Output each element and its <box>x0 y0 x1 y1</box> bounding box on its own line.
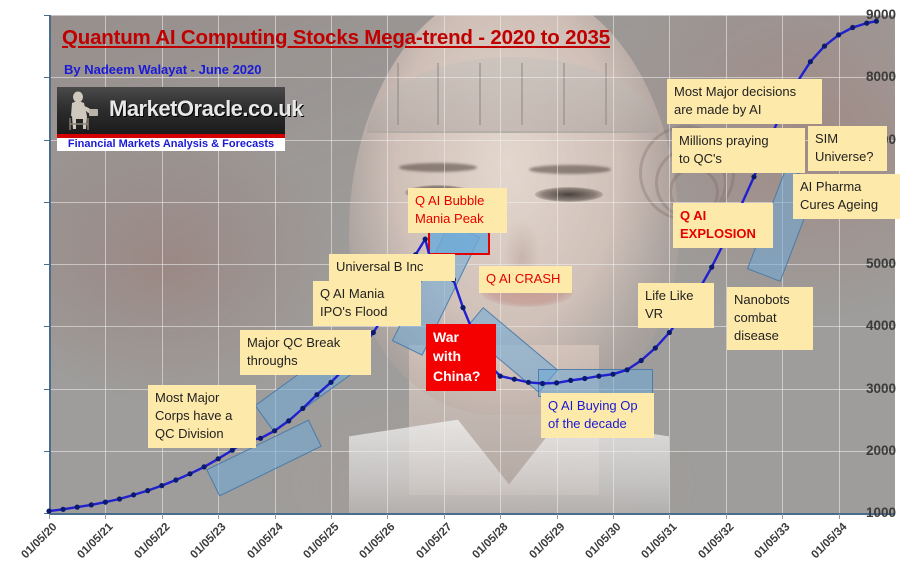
x-axis-tick <box>105 514 106 519</box>
gridline-vertical <box>557 15 558 513</box>
annotation-most-major-decisions: Most Major decisions are made by AI <box>667 79 822 124</box>
annotation-qai-explosion: Q AI EXPLOSION <box>673 203 773 248</box>
annotation-qai-buying-op: Q AI Buying Op of the decade <box>541 393 654 438</box>
y-axis-tick <box>44 77 50 78</box>
x-axis-tick-label: 01/05/31 <box>628 521 680 573</box>
x-axis-tick <box>275 514 276 519</box>
chart-root: 100020003000400050006000700080009000 01/… <box>0 0 900 567</box>
seated-figure-icon <box>61 89 105 133</box>
x-axis-tick-label: 01/05/30 <box>571 521 623 573</box>
y-axis-tick <box>44 451 50 452</box>
logo-tagline: Financial Markets Analysis & Forecasts <box>57 138 285 151</box>
gridline-horizontal <box>49 15 895 16</box>
annotation-qai-crash: Q AI CRASH <box>479 266 572 293</box>
annotation-qai-mania-ipos: Q AI Mania IPO's Flood <box>313 281 421 326</box>
x-axis-tick-label: 01/05/23 <box>176 521 228 573</box>
x-axis-tick-label: 01/05/20 <box>7 521 59 573</box>
y-axis-tick <box>44 326 50 327</box>
page-title: Quantum AI Computing Stocks Mega-trend -… <box>62 26 610 50</box>
x-axis-tick-label: 01/05/25 <box>289 521 341 573</box>
annotation-millions-praying: Millions praying to QC's <box>672 128 805 173</box>
x-axis-tick-label: 01/05/33 <box>740 521 792 573</box>
x-axis-tick-label: 01/05/21 <box>64 521 116 573</box>
y-axis-tick-label: 2000 <box>852 443 900 458</box>
y-axis-tick <box>44 389 50 390</box>
x-axis-tick <box>331 514 332 519</box>
gridline-vertical <box>500 15 501 513</box>
annotation-universal-b-inc: Universal B Inc <box>329 254 455 281</box>
x-axis-tick-label: 01/05/28 <box>458 521 510 573</box>
y-axis-tick <box>44 140 50 141</box>
annotation-most-major-corps: Most Major Corps have a QC Division <box>148 385 256 448</box>
x-axis-tick-label: 01/05/22 <box>120 521 172 573</box>
x-axis-tick <box>782 514 783 519</box>
x-axis-tick <box>669 514 670 519</box>
trend-highlight-bubble-peak <box>428 229 490 255</box>
y-axis-tick <box>44 264 50 265</box>
y-axis-tick-label: 3000 <box>852 381 900 396</box>
annotation-nanobots-combat-disease: Nanobots combat disease <box>727 287 813 350</box>
x-axis-tick-label: 01/05/27 <box>402 521 454 573</box>
annotation-sim-universe: SIM Universe? <box>808 126 887 171</box>
annotation-qai-bubble-mania-peak: Q AI Bubble Mania Peak <box>408 188 507 233</box>
x-axis-tick-label: 01/05/26 <box>346 521 398 573</box>
x-axis-tick <box>500 514 501 519</box>
x-axis-tick <box>49 514 50 519</box>
y-axis-tick-label: 4000 <box>852 318 900 333</box>
y-axis-tick-label: 9000 <box>852 7 900 22</box>
x-axis-tick <box>557 514 558 519</box>
gridline-vertical <box>613 15 614 513</box>
x-axis-tick <box>726 514 727 519</box>
y-axis-tick <box>44 202 50 203</box>
x-axis-tick-label: 01/05/24 <box>233 521 285 573</box>
marketoracle-logo[interactable]: MarketOracle.co.uk Financial Markets Ana… <box>57 87 285 151</box>
x-axis-line <box>49 513 895 515</box>
x-axis-tick <box>387 514 388 519</box>
x-axis-tick <box>613 514 614 519</box>
x-axis-tick <box>162 514 163 519</box>
x-axis-tick-label: 01/05/34 <box>797 521 849 573</box>
x-axis-tick <box>444 514 445 519</box>
y-axis-tick <box>44 15 50 16</box>
y-axis-tick-label: 8000 <box>852 69 900 84</box>
y-axis-tick-label: 5000 <box>852 256 900 271</box>
y-axis-tick-label: 1000 <box>852 505 900 520</box>
logo-wordmark: MarketOracle.co.uk <box>109 96 303 122</box>
annotation-life-like-vr: Life Like VR <box>638 283 714 328</box>
annotation-war-with-china: War with China? <box>426 324 496 391</box>
gridline-vertical <box>839 15 840 513</box>
annotation-major-qc-breakthroughs: Major QC Break throughs <box>240 330 371 375</box>
annotation-ai-pharma-cures-ageing: AI Pharma Cures Ageing <box>793 174 900 219</box>
byline: By Nadeem Walayat - June 2020 <box>64 62 262 77</box>
gridline-horizontal <box>49 451 895 452</box>
x-axis-tick-label: 01/05/29 <box>515 521 567 573</box>
x-axis-tick <box>218 514 219 519</box>
x-axis-tick-label: 01/05/32 <box>684 521 736 573</box>
x-axis-tick <box>839 514 840 519</box>
